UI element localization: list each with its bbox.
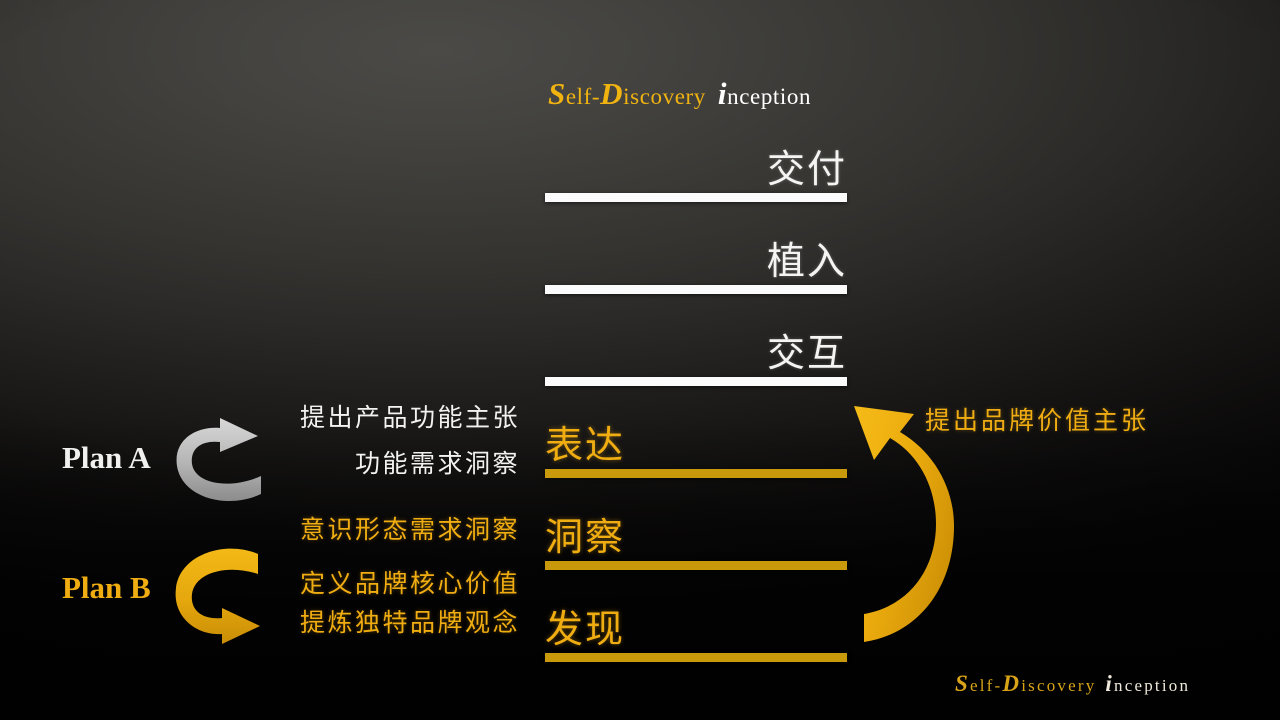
slide-canvas: Self-Discoveryinception 交付 植入 交互 表达 洞察 发… — [0, 0, 1280, 720]
stack-row-insight: 洞察 — [545, 478, 847, 570]
note-refine-brand-concept: 提炼独特品牌观念 — [300, 610, 520, 635]
note-ideology-need-insight: 意识形态需求洞察 — [300, 517, 520, 542]
note-product-function-claim: 提出产品功能主张 — [300, 405, 520, 430]
stack-row-bar — [545, 193, 847, 202]
plan-a-label: Plan A — [62, 442, 151, 473]
brand-wordmark-footer: Self-Discoveryinception — [955, 672, 1190, 695]
brand-cap-s: S — [548, 76, 566, 111]
brand-word-inception: nception — [1114, 676, 1190, 695]
curved-arrow-gold-large-icon — [836, 398, 954, 650]
brand-word-self: elf- — [566, 84, 600, 109]
stack-row-label: 洞察 — [545, 518, 625, 556]
curved-arrow-grey-icon — [168, 418, 264, 504]
stack-row-bar — [545, 653, 847, 662]
stack-row-bar — [545, 469, 847, 478]
brand-cap-s: S — [955, 671, 970, 696]
plan-b-label: Plan B — [62, 572, 151, 603]
brand-cap-d: D — [1002, 671, 1021, 696]
note-function-need-insight: 功能需求洞察 — [355, 451, 520, 476]
note-define-brand-core-value: 定义品牌核心价值 — [300, 571, 520, 596]
stack-row-label: 发现 — [545, 610, 625, 648]
stack-row-label: 交互 — [767, 334, 847, 372]
brand-cap-d: D — [600, 76, 623, 111]
brand-word-inception: nception — [727, 84, 811, 109]
curved-arrow-gold-icon — [168, 548, 264, 644]
stack-row-bar — [545, 285, 847, 294]
stack-row-delivery: 交付 — [545, 110, 847, 202]
stack-row-bar — [545, 561, 847, 570]
stack-row-interaction: 交互 — [545, 294, 847, 386]
stack-row-label: 交付 — [767, 150, 847, 188]
stack-row-label: 植入 — [767, 242, 847, 280]
brand-cap-i: i — [1105, 671, 1114, 696]
stack-row-expression: 表达 — [545, 386, 847, 478]
brand-word-self: elf- — [970, 676, 1002, 695]
brand-word-discovery: iscovery — [1021, 676, 1096, 695]
stack-row-discovery: 发现 — [545, 570, 847, 662]
stack-row-implant: 植入 — [545, 202, 847, 294]
stack-row-label: 表达 — [545, 426, 625, 464]
stack-row-bar — [545, 377, 847, 386]
brand-word-discovery: iscovery — [623, 84, 706, 109]
brand-cap-i: i — [718, 76, 727, 111]
brand-wordmark-top: Self-Discoveryinception — [548, 78, 811, 109]
process-stack: 交付 植入 交互 表达 洞察 发现 — [545, 110, 847, 662]
note-brand-value-claim: 提出品牌价值主张 — [925, 408, 1149, 433]
